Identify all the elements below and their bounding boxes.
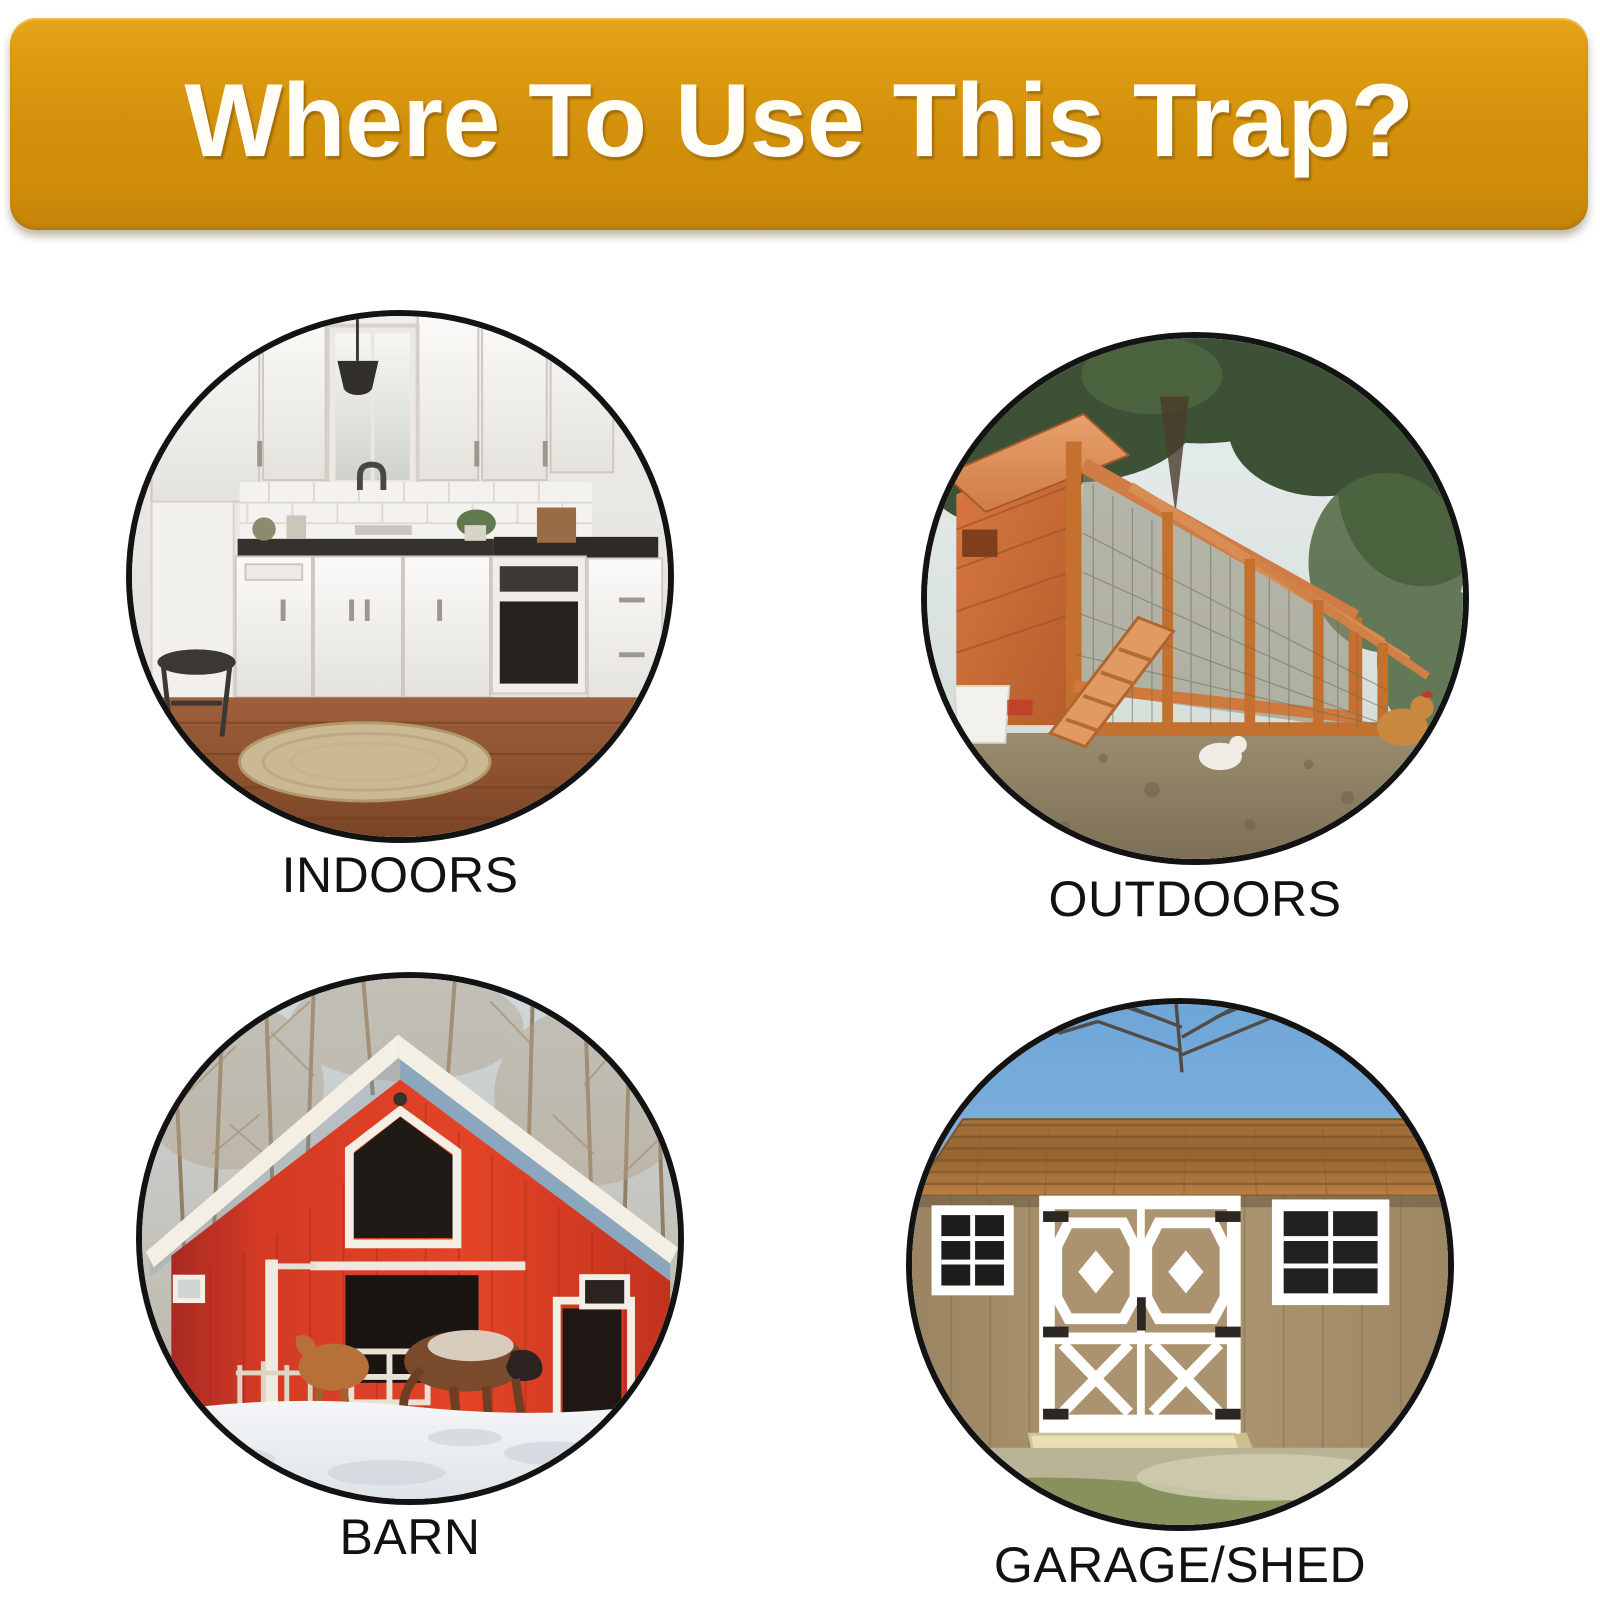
barn-photo [136, 972, 684, 1505]
page-header-banner: Where To Use This Trap? [10, 18, 1588, 230]
location-label-garage-shed: GARAGE/SHED [994, 1539, 1366, 1592]
chicken-coop-illustration [927, 338, 1463, 859]
location-card-garage-shed: GARAGE/SHED [780, 998, 1580, 1592]
location-label-outdoors: OUTDOORS [1049, 873, 1342, 926]
kitchen-illustration [132, 316, 668, 837]
location-card-outdoors: OUTDOORS [795, 332, 1595, 926]
page-title: Where To Use This Trap? [185, 69, 1414, 179]
indoors-photo [126, 310, 674, 843]
location-card-indoors: INDOORS [0, 310, 800, 902]
location-card-barn: BARN [10, 972, 810, 1564]
location-label-barn: BARN [340, 1511, 481, 1564]
location-grid: INDOORS [0, 290, 1600, 1600]
garage-shed-photo [906, 998, 1454, 1531]
outdoors-photo [921, 332, 1469, 865]
location-label-indoors: INDOORS [282, 849, 519, 902]
red-barn-illustration [142, 978, 678, 1499]
shed-illustration [912, 1004, 1448, 1525]
